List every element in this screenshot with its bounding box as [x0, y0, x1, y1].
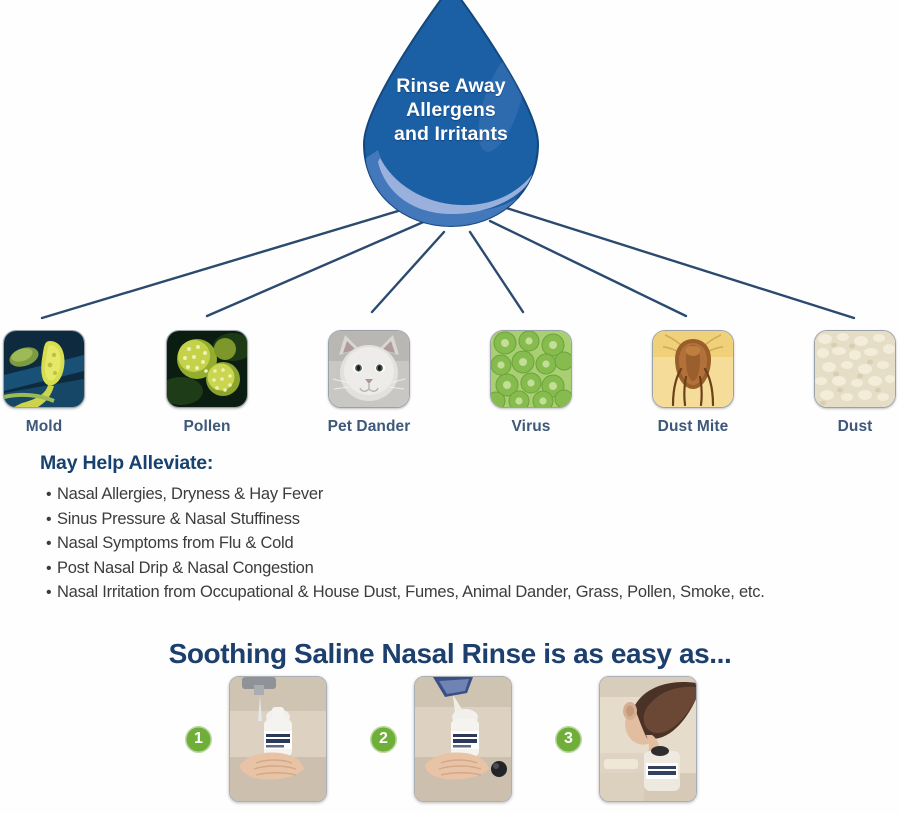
droplet-graphic: Rinse Away Allergens and Irritants	[352, 0, 550, 230]
alleviate-item-3: Nasal Symptoms from Flu & Cold	[57, 534, 293, 553]
step-1[interactable]: 1	[185, 676, 327, 802]
alleviate-item-2: Sinus Pressure & Nasal Stuffiness	[57, 510, 300, 529]
connector-line-virus	[470, 232, 523, 312]
allergen-label-mold: Mold	[0, 418, 88, 436]
allergen-item-dust-mite[interactable]: Dust Mite	[649, 330, 737, 436]
person-rinsing-nose-over-sink-photo	[599, 676, 697, 802]
hand-holding-bottle-under-faucet-photo	[229, 676, 327, 802]
allergen-label-dust: Dust	[811, 418, 899, 436]
alleviate-section: May Help Alleviate: • Nasal Allergies, D…	[40, 452, 880, 608]
droplet-line-2: Allergens	[352, 98, 550, 122]
bullet-icon: •	[46, 487, 57, 503]
bullet-icon: •	[46, 585, 57, 601]
allergen-label-pollen: Pollen	[163, 418, 251, 436]
alleviate-item-1: Nasal Allergies, Dryness & Hay Fever	[57, 485, 323, 504]
connector-line-dust	[500, 206, 854, 318]
step-badge-3: 3	[555, 726, 582, 753]
step-3[interactable]: 3	[555, 676, 697, 802]
pollen-icon	[166, 330, 248, 408]
dust-icon	[814, 330, 896, 408]
connector-line-pollen	[207, 220, 428, 316]
list-item: • Nasal Irritation from Occupational & H…	[46, 583, 880, 602]
alleviate-heading: May Help Alleviate:	[40, 452, 880, 475]
bullet-icon: •	[46, 512, 57, 528]
list-item: • Post Nasal Drip & Nasal Congestion	[46, 559, 880, 578]
hand-holding-bottle-with-cap-photo	[414, 676, 512, 802]
droplet-line-1: Rinse Away	[352, 74, 550, 98]
allergen-item-virus[interactable]: Virus	[487, 330, 575, 436]
infographic-canvas: Rinse Away Allergens and Irritants Mo	[0, 0, 900, 814]
connector-line-dust-mite	[490, 221, 686, 316]
step-badge-1: 1	[185, 726, 212, 753]
alleviate-item-5: Nasal Irritation from Occupational & Hou…	[57, 583, 765, 602]
list-item: • Nasal Symptoms from Flu & Cold	[46, 534, 880, 553]
bullet-icon: •	[46, 536, 57, 552]
cat-face-icon	[328, 330, 410, 408]
allergen-item-dust[interactable]: Dust	[811, 330, 899, 436]
allergen-label-dust-mite: Dust Mite	[649, 418, 737, 436]
list-item: • Sinus Pressure & Nasal Stuffiness	[46, 510, 880, 529]
dust-mite-icon	[652, 330, 734, 408]
bullet-icon: •	[46, 561, 57, 577]
allergen-label-virus: Virus	[487, 418, 575, 436]
droplet-line-3: and Irritants	[352, 122, 550, 146]
allergen-item-pet-dander[interactable]: Pet Dander	[325, 330, 413, 436]
step-2[interactable]: 2	[370, 676, 512, 802]
allergen-item-mold[interactable]: Mold	[0, 330, 88, 436]
droplet-text: Rinse Away Allergens and Irritants	[352, 74, 550, 146]
mold-icon	[3, 330, 85, 408]
alleviate-item-4: Post Nasal Drip & Nasal Congestion	[57, 559, 314, 578]
allergen-label-pet-dander: Pet Dander	[325, 418, 413, 436]
list-item: • Nasal Allergies, Dryness & Hay Fever	[46, 485, 880, 504]
allergen-item-pollen[interactable]: Pollen	[163, 330, 251, 436]
easy-as-headline: Soothing Saline Nasal Rinse is as easy a…	[0, 638, 900, 670]
step-badge-2: 2	[370, 726, 397, 753]
virus-icon	[490, 330, 572, 408]
connector-line-pet-dander	[372, 232, 444, 312]
